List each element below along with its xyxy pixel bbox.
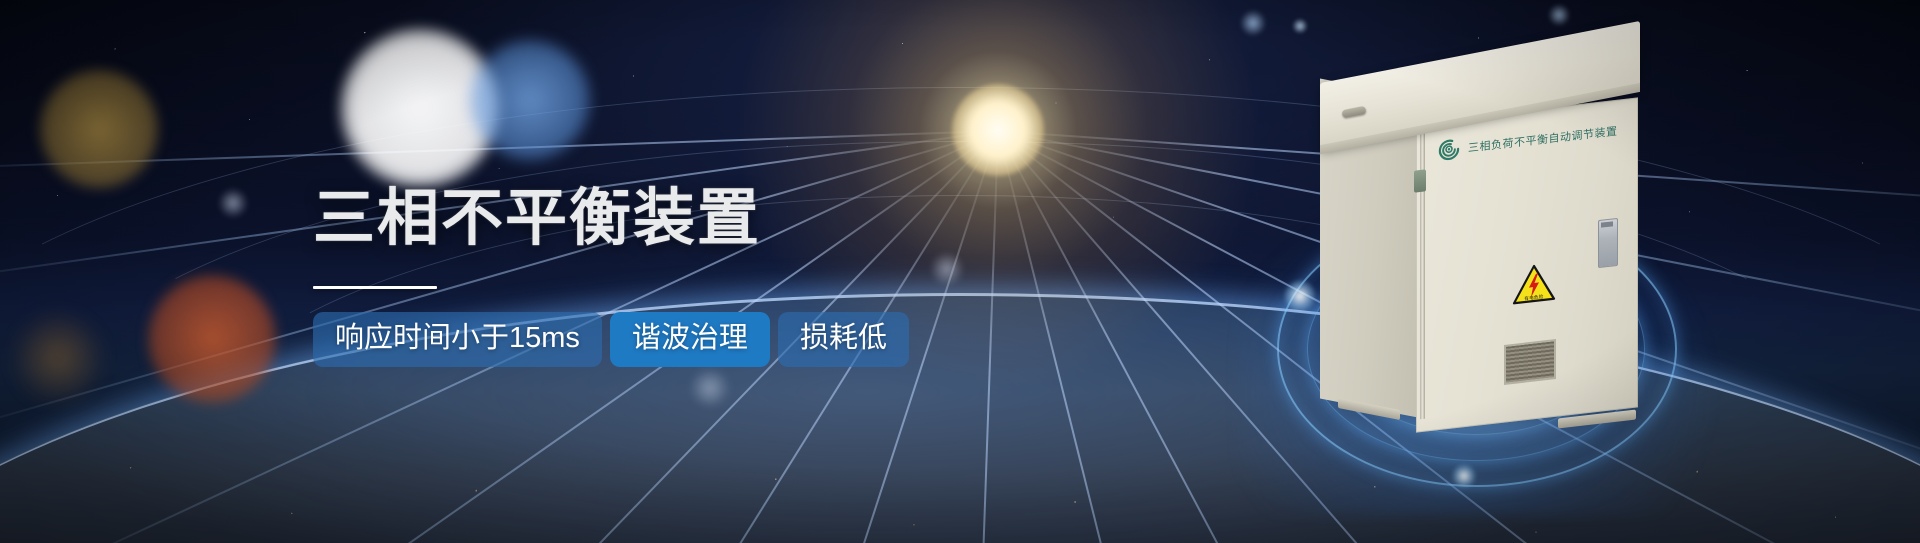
- banner-copy-block: 三相不平衡装置 响应时间小于15ms 谐波治理 损耗低: [313, 188, 909, 367]
- title-divider: [313, 286, 437, 289]
- brand-logo-icon: [1436, 135, 1462, 164]
- hero-banner: 三相负荷不平衡自动调节装置 有电危险 三相不平衡装置 响应时间小于15ms 谐波…: [0, 0, 1920, 543]
- cabinet-ventilation-grille: [1504, 339, 1556, 385]
- product-cabinet-image: 三相负荷不平衡自动调节装置 有电危险: [1320, 22, 1680, 442]
- electric-hazard-icon: 有电危险: [1512, 261, 1556, 306]
- feature-tag-response-time[interactable]: 响应时间小于15ms: [313, 312, 602, 367]
- feature-tag-list: 响应时间小于15ms 谐波治理 损耗低: [313, 312, 909, 367]
- feature-tag-low-loss[interactable]: 损耗低: [778, 312, 909, 367]
- page-title: 三相不平衡装置: [313, 188, 909, 250]
- feature-tag-harmonic[interactable]: 谐波治理: [610, 312, 770, 367]
- cabinet-hinge: [1414, 169, 1426, 192]
- cabinet-door-seam: [1420, 114, 1425, 420]
